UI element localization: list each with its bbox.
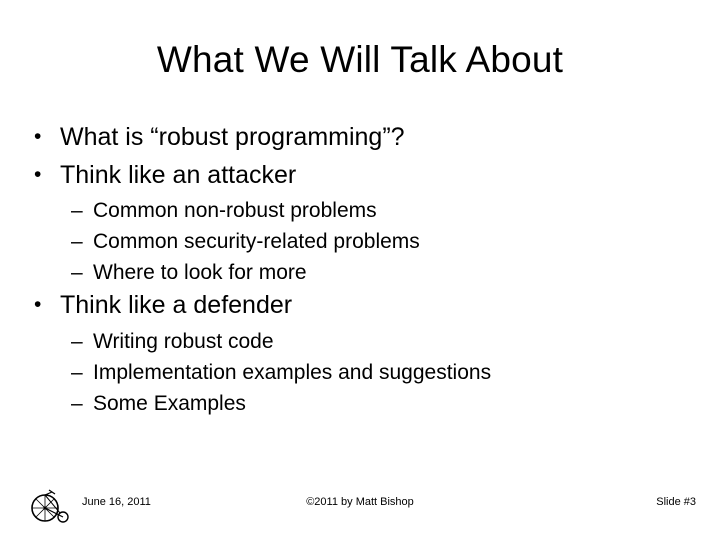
list-item: – Some Examples xyxy=(71,393,694,415)
list-item: • What is “robust programming”? xyxy=(34,125,694,151)
list-item: – Common non-robust problems xyxy=(71,200,694,222)
page-title: What We Will Talk About xyxy=(0,40,720,81)
dash-bullet-glyph: – xyxy=(71,362,93,384)
list-item-label: What is “robust programming”? xyxy=(60,125,694,151)
list-item-label: Common non-robust problems xyxy=(93,200,694,222)
list-item-label: Writing robust code xyxy=(93,331,694,353)
dash-bullet-glyph: – xyxy=(71,200,93,222)
slide: What We Will Talk About • What is “robus… xyxy=(0,0,720,540)
list-item-label: Common security-related problems xyxy=(93,231,694,253)
dash-bullet-glyph: – xyxy=(71,393,93,415)
bullet-glyph: • xyxy=(34,163,60,187)
dash-bullet-glyph: – xyxy=(71,331,93,353)
list-item: – Implementation examples and suggestion… xyxy=(71,362,694,384)
list-item: – Common security-related problems xyxy=(71,231,694,253)
list-item: • Think like an attacker xyxy=(34,163,694,189)
bullet-glyph: • xyxy=(34,293,60,317)
list-item-label: Implementation examples and suggestions xyxy=(93,362,694,384)
list-item-label: Some Examples xyxy=(93,393,694,415)
list-item: – Where to look for more xyxy=(71,262,694,284)
footer-slide-number: Slide #3 xyxy=(656,496,696,508)
list-item-label: Think like a defender xyxy=(60,293,694,319)
content-bullet-list: • What is “robust programming”? • Think … xyxy=(34,125,694,424)
list-item-label: Think like an attacker xyxy=(60,163,694,189)
footer-copyright: ©2011 by Matt Bishop xyxy=(0,496,720,508)
list-item: • Think like a defender xyxy=(34,293,694,319)
slide-footer: June 16, 2011 ©2011 by Matt Bishop Slide… xyxy=(0,484,720,540)
dash-bullet-glyph: – xyxy=(71,262,93,284)
list-item: – Writing robust code xyxy=(71,331,694,353)
bullet-glyph: • xyxy=(34,125,60,149)
list-item-label: Where to look for more xyxy=(93,262,694,284)
penny-farthing-bicycle-logo xyxy=(30,486,70,530)
dash-bullet-glyph: – xyxy=(71,231,93,253)
